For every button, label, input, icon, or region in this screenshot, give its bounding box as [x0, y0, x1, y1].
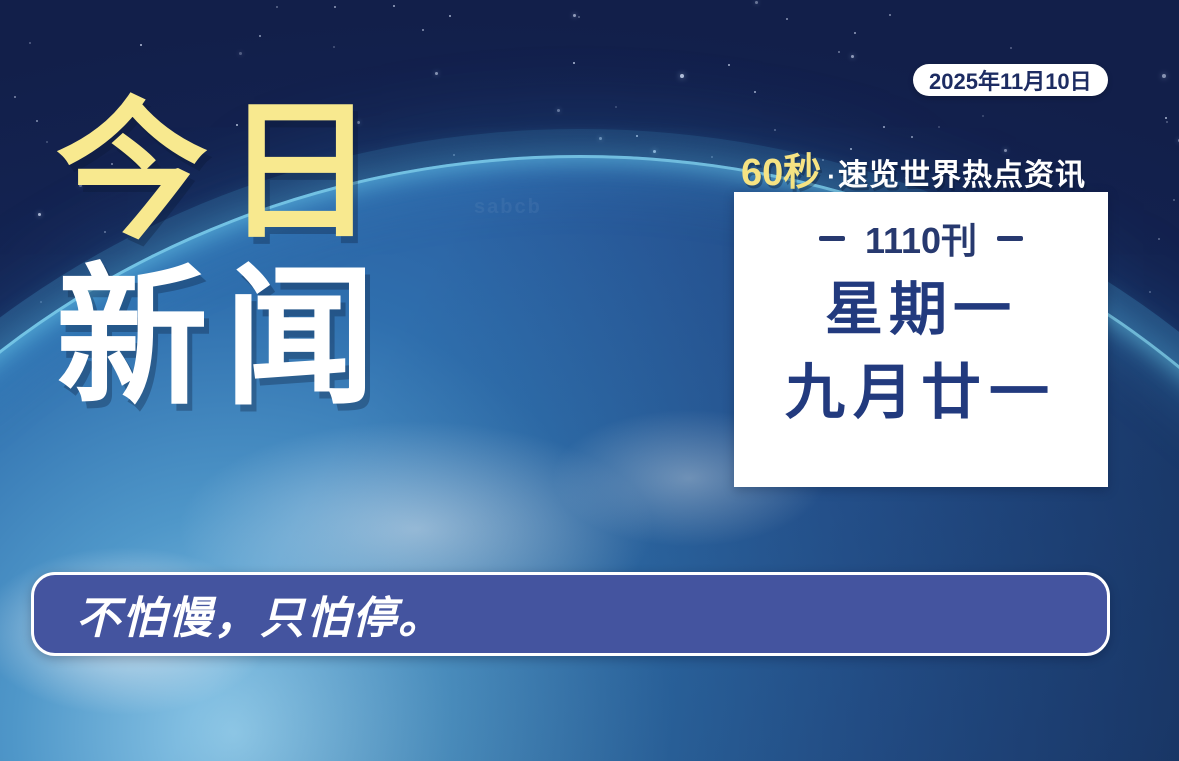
- issue-row: 1110刊: [819, 212, 1023, 264]
- quote-text: 不怕慢，只怕停。: [76, 582, 444, 646]
- news-poster: sabcb 今日 新闻 2025年11月10日 60秒 · 速览世界热点资讯 1…: [0, 0, 1179, 761]
- subtitle-tagline: 速览世界热点资讯: [838, 150, 1086, 194]
- subtitle-separator-dot: ·: [827, 161, 836, 192]
- dash-left-icon: [819, 236, 845, 241]
- subtitle-seconds: 60秒: [741, 141, 821, 196]
- quote-bar: 不怕慢，只怕停。: [31, 572, 1110, 656]
- date-badge: 2025年11月10日: [913, 64, 1108, 96]
- subtitle: 60秒 · 速览世界热点资讯: [741, 141, 1086, 196]
- page-title-line-1: 今日: [56, 96, 392, 248]
- issue-number: 1110刊: [865, 212, 977, 264]
- info-card: 1110刊 星期一 九月廿一: [734, 192, 1108, 487]
- dash-right-icon: [997, 236, 1023, 241]
- page-title-line-2: 新闻: [56, 262, 392, 414]
- page-title: 今日 新闻: [56, 96, 392, 414]
- watermark-text: sabcb: [474, 196, 542, 219]
- lunar-date-label: 九月廿一: [785, 360, 1057, 426]
- weekday-label: 星期一: [825, 278, 1017, 342]
